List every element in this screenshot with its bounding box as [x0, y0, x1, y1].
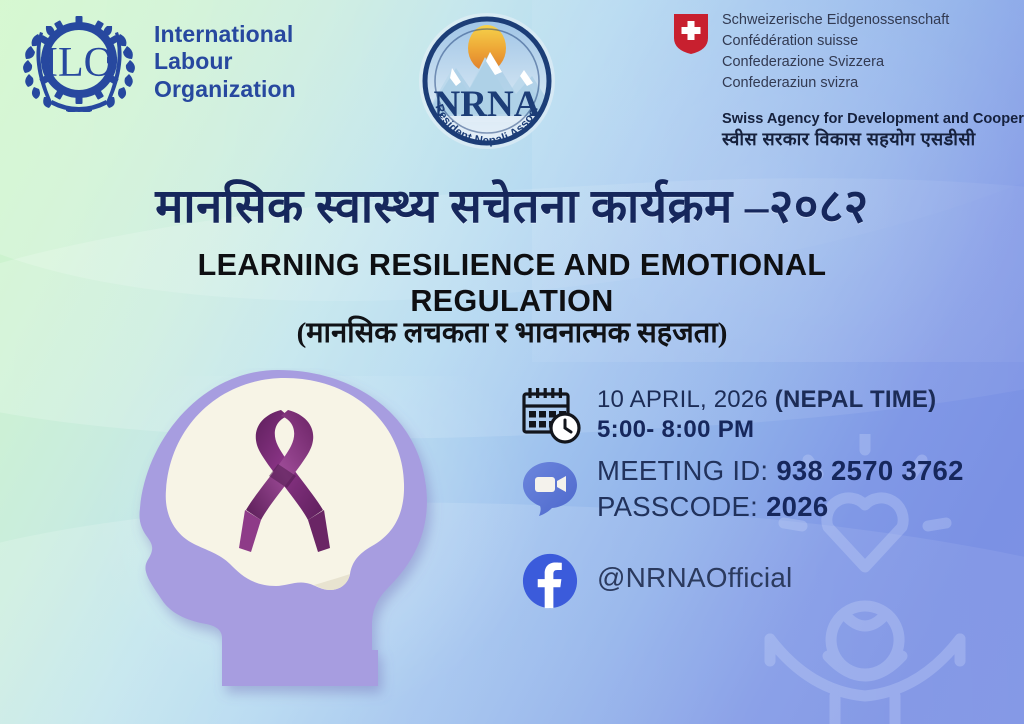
swiss-lang-it: Confederazione Svizzera [722, 52, 949, 73]
swiss-lang-de: Schweizerische Eidgenossenschaft [722, 10, 949, 31]
ilo-line-3: Organization [154, 76, 296, 103]
meeting-id-label: MEETING ID: [597, 455, 776, 486]
event-datetime-row: 10 APRIL, 2026 (NEPAL TIME) 5:00- 8:00 P… [519, 381, 999, 453]
ilo-wordmark: International Labour Organization [154, 21, 296, 102]
passcode-label: PASSCODE: [597, 491, 766, 522]
event-timezone: (NEPAL TIME) [775, 386, 937, 413]
event-info-block: 10 APRIL, 2026 (NEPAL TIME) 5:00- 8:00 P… [519, 381, 999, 617]
meeting-id-value: 938 2570 3762 [776, 455, 963, 486]
swiss-lang-fr: Confédération suisse [722, 31, 949, 52]
head-brain-purple-ribbon-illustration [110, 368, 455, 724]
page-title-english: LEARNING RESILIENCE AND EMOTIONAL REGULA… [0, 248, 1024, 320]
passcode-value: 2026 [766, 491, 828, 522]
page-subtitle-nepali: (मानसिक लचकता र भावनात्मक सहजता) [0, 312, 1024, 351]
swiss-lang-rm: Confederaziun svizra [722, 73, 949, 94]
event-date: 10 APRIL, 2026 [597, 386, 775, 413]
meeting-id-line: MEETING ID: 938 2570 3762 [597, 453, 964, 489]
page-title-english-line-1: LEARNING RESILIENCE AND EMOTIONAL [0, 248, 1024, 284]
event-date-line: 10 APRIL, 2026 (NEPAL TIME) [597, 385, 936, 415]
swiss-languages: Schweizerische Eidgenossenschaft Confédé… [722, 10, 949, 95]
swiss-sdc-logo: Schweizerische Eidgenossenschaft Confédé… [672, 10, 1024, 151]
zoom-video-icon[interactable] [519, 459, 581, 517]
header-logo-row: ILO International Labour Organization [0, 0, 1024, 150]
ilo-logo: ILO International Labour Organization [18, 12, 296, 112]
event-time: 5:00- 8:00 PM [597, 415, 936, 445]
ilo-line-2: Labour [154, 48, 296, 75]
svg-text:ILO: ILO [44, 40, 114, 86]
facebook-icon[interactable] [519, 551, 581, 611]
calendar-clock-icon [519, 383, 581, 445]
ilo-line-1: International [154, 21, 296, 48]
page-title-nepali: मानसिक स्वास्थ्य सचेतना कार्यक्रम –२०८२ [0, 172, 1024, 236]
nrna-emblem-icon: NRNA Non-Resident Nepali Association [398, 4, 576, 164]
facebook-handle[interactable]: @NRNAOfficial [597, 551, 792, 604]
zoom-details-row: MEETING ID: 938 2570 3762 PASSCODE: 2026 [519, 453, 999, 551]
facebook-row[interactable]: @NRNAOfficial [519, 551, 999, 617]
swiss-agency-en: Swiss Agency for Development and Coopera… [722, 111, 1024, 127]
event-poster: ILO International Labour Organization [0, 0, 1024, 724]
passcode-line: PASSCODE: 2026 [597, 489, 964, 525]
swiss-agency-np: स्वीस सरकार विकास सहयोग एसडीसी [722, 127, 1024, 151]
ilo-emblem-icon: ILO [18, 12, 140, 112]
swiss-shield-icon [672, 12, 710, 56]
